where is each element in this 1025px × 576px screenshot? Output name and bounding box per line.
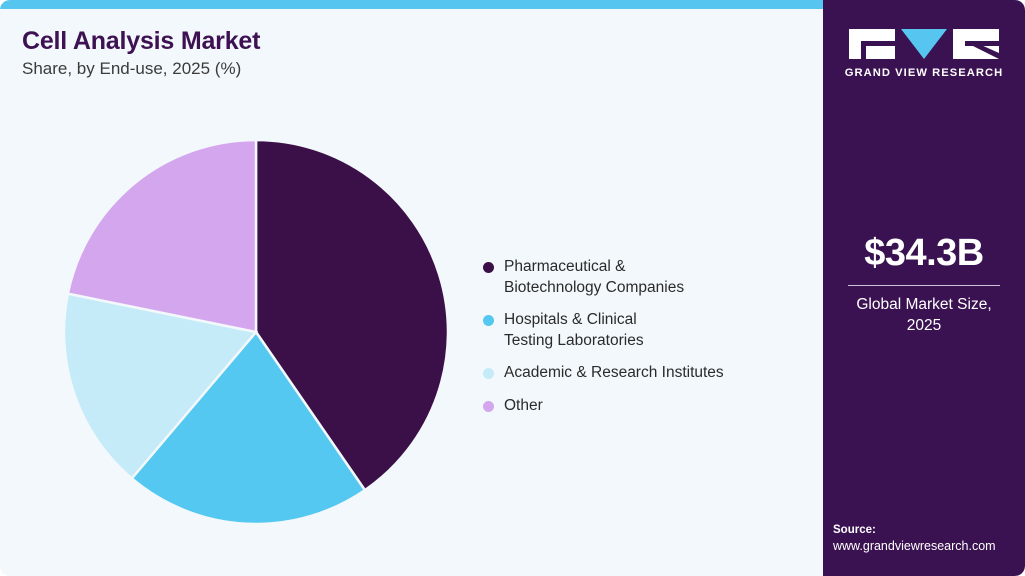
legend-item[interactable]: Pharmaceutical & Biotechnology Companies [483,257,803,298]
logo-block: GRAND VIEW RESEARCH [823,28,1025,79]
legend-swatch-icon [483,368,494,379]
stat-divider [848,285,1000,286]
brand-panel: GRAND VIEW RESEARCH $34.3B Global Market… [823,0,1025,576]
legend-item-label: Hospitals & Clinical Testing Laboratorie… [504,310,644,351]
legend-item[interactable]: Academic & Research Institutes [483,363,803,384]
legend-swatch-icon [483,315,494,326]
pie-slice-group [64,140,448,524]
legend-item[interactable]: Hospitals & Clinical Testing Laboratorie… [483,310,803,351]
page-subtitle: Share, by End-use, 2025 (%) [22,59,241,79]
source-url[interactable]: www.grandviewresearch.com [833,539,1023,553]
legend-swatch-icon [483,401,494,412]
legend-item[interactable]: Other [483,396,803,417]
infographic-card: Cell Analysis Market Share, by End-use, … [0,0,1025,576]
chart-pane: Cell Analysis Market Share, by End-use, … [0,9,823,576]
legend-item-label: Academic & Research Institutes [504,363,724,384]
source-block: Source: www.grandviewresearch.com [833,524,1023,553]
legend-swatch-icon [483,262,494,273]
gvr-logo-icon [849,28,999,60]
market-size-stat: $34.3B Global Market Size,2025 [823,234,1025,337]
logo-wordmark: GRAND VIEW RESEARCH [823,67,1025,79]
stat-caption: Global Market Size,2025 [823,295,1025,337]
pie-chart [64,140,448,524]
pie-chart-svg [64,140,448,524]
legend-item-label: Pharmaceutical & Biotechnology Companies [504,257,684,298]
page-title: Cell Analysis Market [22,27,260,56]
legend-item-label: Other [504,396,543,417]
stat-value: $34.3B [823,234,1025,272]
chart-legend: Pharmaceutical & Biotechnology Companies… [483,257,803,429]
source-label: Source: [833,524,1023,536]
